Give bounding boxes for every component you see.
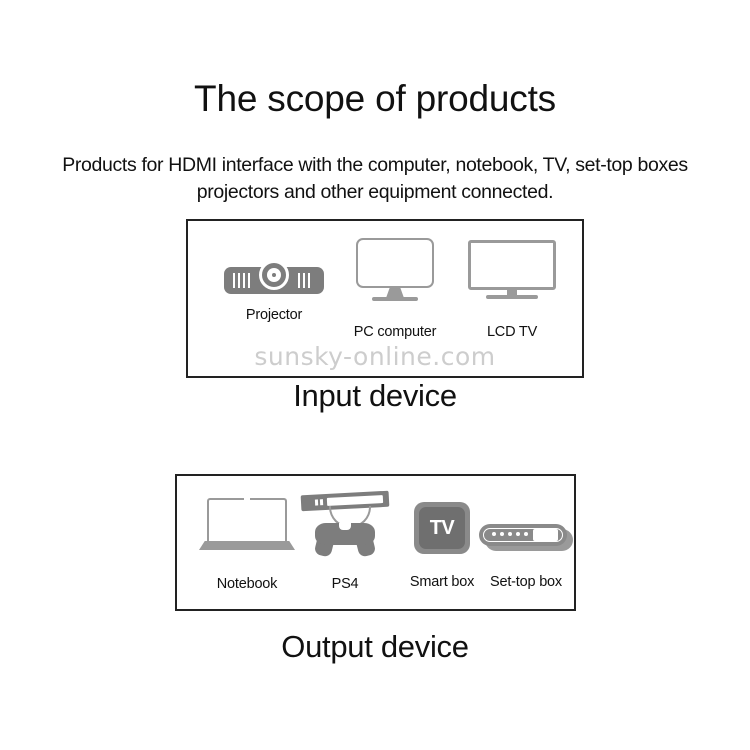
set-top-box-icon: [479, 520, 573, 554]
laptop-icon: [199, 498, 295, 554]
input-device-row: Projector PC computer LCD TV: [188, 221, 582, 376]
smart-box-tv-badge: TV: [414, 502, 470, 554]
smart-tv-box-icon: TV: [414, 502, 470, 554]
subtitle-line-2: projectors and other equipment connected…: [0, 179, 750, 206]
output-device-row: Notebook PS4: [177, 476, 574, 609]
page-title: The scope of products: [0, 78, 750, 120]
device-label-set-top-box: Set-top box: [473, 574, 579, 590]
game-console-icon: [299, 490, 391, 558]
input-device-box: Projector PC computer LCD TV: [186, 219, 584, 378]
page-subtitle: Products for HDMI interface with the com…: [0, 152, 750, 206]
device-label-ps4: PS4: [291, 576, 399, 592]
lcd-tv-icon: [468, 240, 556, 300]
output-device-box: Notebook PS4: [175, 474, 576, 611]
device-notebook: Notebook: [191, 498, 303, 592]
projector-icon: [218, 257, 330, 301]
input-group-caption: Input device: [0, 378, 750, 414]
product-scope-infographic: The scope of products Products for HDMI …: [0, 0, 750, 750]
device-lcd-tv: LCD TV: [444, 240, 580, 340]
desktop-monitor-icon: [356, 238, 434, 302]
output-group-caption: Output device: [0, 629, 750, 665]
device-set-top-box: Set-top box: [473, 520, 579, 590]
device-label-notebook: Notebook: [191, 576, 303, 592]
subtitle-line-1: Products for HDMI interface with the com…: [62, 154, 688, 176]
device-label-lcd-tv: LCD TV: [444, 324, 580, 340]
device-ps4: PS4: [291, 490, 399, 592]
